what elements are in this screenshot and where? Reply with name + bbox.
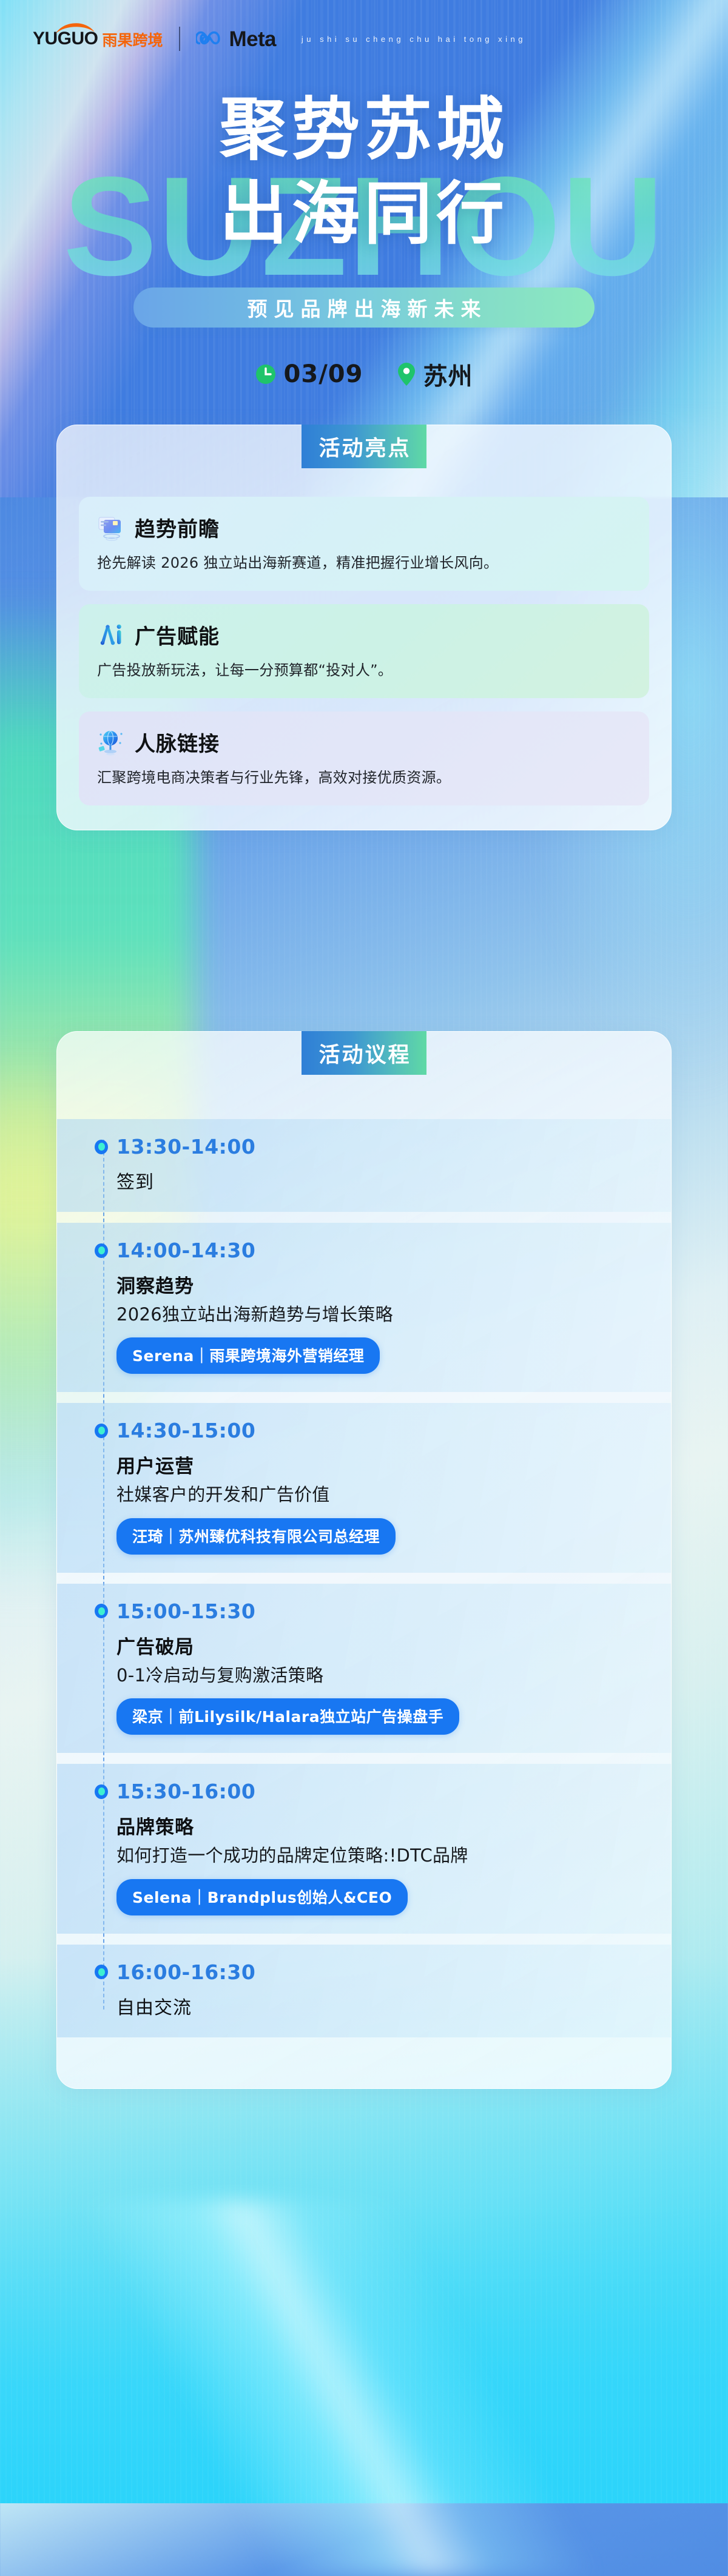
highlights-panel: 活动亮点 趋势前瞻 抢先解读 2026 独立站出海新赛道，精准把握行业增长风向。 [56,425,672,830]
agenda-time-row: 16:00-16:30 [95,1960,637,1984]
timeline-dot-icon [95,1965,108,1979]
agenda-time: 14:30-15:00 [116,1419,255,1442]
highlight-title: 趋势前瞻 [135,513,220,542]
meta-infinity-icon [196,30,225,48]
pinyin-tagline: ju shi su cheng chu hai tong xing [302,35,526,44]
highlight-desc: 广告投放新玩法，让每一分预算都“投对人”。 [97,659,631,681]
agenda-body: 自由交流 [95,1993,637,2019]
highlights-section-badge: 活动亮点 [302,425,426,468]
agenda-time: 14:00-14:30 [116,1239,255,1262]
agenda-speaker-badge: 梁京｜前Lilysilk/Halara独立站广告操盘手 [116,1698,459,1735]
highlight-card: 趋势前瞻 抢先解读 2026 独立站出海新赛道，精准把握行业增长风向。 [79,497,649,591]
yuguo-logo: YUGUO 雨果跨境 [33,30,163,48]
bottom-diagonal-light [49,2200,595,2576]
agenda-item: 14:30-15:00 用户运营 社媒客户的开发和广告价值 汪琦｜苏州臻优科技有… [57,1403,671,1572]
highlight-title: 广告赋能 [135,620,220,650]
highlight-desc: 汇聚跨境电商决策者与行业先锋，高效对接优质资源。 [97,767,631,789]
agenda-panel: 活动议程 13:30-14:00 签到 14:00-14:30 洞察趋势 202… [56,1031,672,2089]
agenda-time: 15:00-15:30 [116,1599,255,1623]
timeline-dot-icon [95,1784,108,1799]
hero-subtitle: 预见品牌出海新未来 [241,293,488,322]
hero-title-line2: 出海同行 [0,178,728,251]
highlight-card: 广告赋能 广告投放新玩法，让每一分预算都“投对人”。 [79,604,649,698]
agenda-speaker-badge: Selena｜Brandplus创始人&CEO [116,1879,408,1915]
agenda-item: 16:00-16:30 自由交流 [57,1945,671,2037]
logo-bar: YUGUO 雨果跨境 Meta ju shi su cheng chu hai … [33,27,526,51]
event-date: 03/09 [284,360,363,388]
chart-document-icon [97,514,125,542]
agenda-speaker-badge: Serena｜雨果跨境海外营销经理 [116,1337,380,1374]
highlight-desc: 抢先解读 2026 独立站出海新赛道，精准把握行业增长风向。 [97,552,631,574]
timeline-dot-icon [95,1424,108,1438]
highlight-card-header: 人脉链接 [97,727,631,757]
agenda-time-row: 15:00-15:30 [95,1599,637,1623]
agenda-item: 14:00-14:30 洞察趋势 2026独立站出海新趋势与增长策略 Seren… [57,1223,671,1392]
event-location-chip: 苏州 [398,357,473,392]
agenda-title: 用户运营 [116,1451,637,1478]
agenda-body: 广告破局 0-1冷启动与复购激活策略 梁京｜前Lilysilk/Halara独立… [95,1632,637,1735]
agenda-time-row: 15:30-16:00 [95,1780,637,1803]
agenda-timeline: 13:30-14:00 签到 14:00-14:30 洞察趋势 2026独立站出… [57,1119,671,2037]
agenda-subtitle: 2026独立站出海新趋势与增长策略 [116,1303,637,1327]
agenda-badge-label: 活动议程 [317,1038,411,1069]
timeline-dot-icon [95,1243,108,1258]
hero-title-line1: 聚势苏城 [0,93,728,167]
agenda-item: 15:00-15:30 广告破局 0-1冷启动与复购激活策略 梁京｜前Lilys… [57,1584,671,1753]
agenda-time-row: 14:00-14:30 [95,1239,637,1262]
agenda-section-badge: 活动议程 [302,1031,426,1075]
timeline-dot-icon [95,1604,108,1618]
agenda-subtitle: 社媒客户的开发和广告价值 [116,1483,637,1507]
location-pin-icon [398,363,415,386]
agenda-subtitle: 0-1冷启动与复购激活策略 [116,1664,637,1687]
highlight-card: 人脉链接 汇聚跨境电商决策者与行业先锋，高效对接优质资源。 [79,711,649,805]
agenda-time: 13:30-14:00 [116,1135,255,1159]
logo-divider [179,27,180,51]
timeline-dot-icon [95,1140,108,1154]
hero-meta-row: 03/09 苏州 [0,357,728,392]
agenda-body: 洞察趋势 2026独立站出海新趋势与增长策略 Serena｜雨果跨境海外营销经理 [95,1271,637,1374]
agenda-time-row: 14:30-15:00 [95,1419,637,1442]
agenda-time-row: 13:30-14:00 [95,1135,637,1159]
ai-icon [97,621,125,649]
event-date-chip: 03/09 [255,360,363,388]
agenda-item: 15:30-16:00 品牌策略 如何打造一个成功的品牌定位策略:!DTC品牌 … [57,1764,671,1933]
agenda-title: 广告破局 [116,1632,637,1659]
agenda-item: 13:30-14:00 签到 [57,1119,671,1212]
agenda-body: 签到 [95,1167,637,1194]
agenda-speaker-badge: 汪琦｜苏州臻优科技有限公司总经理 [116,1518,396,1555]
meta-wordmark: Meta [229,29,276,50]
globe-network-icon [97,728,125,756]
agenda-body: 用户运营 社媒客户的开发和广告价值 汪琦｜苏州臻优科技有限公司总经理 [95,1451,637,1554]
agenda-plain-text: 自由交流 [116,1993,637,2019]
highlight-card-header: 广告赋能 [97,620,631,650]
highlight-title: 人脉链接 [135,727,220,757]
yuguo-wordmark-en: YUGUO [33,30,98,48]
meta-logo: Meta [196,29,276,50]
agenda-plain-text: 签到 [116,1167,637,1194]
agenda-subtitle: 如何打造一个成功的品牌定位策略:!DTC品牌 [116,1844,637,1868]
agenda-title: 洞察趋势 [116,1271,637,1298]
highlights-badge-label: 活动亮点 [317,431,411,462]
clock-icon [255,364,276,385]
agenda-title: 品牌策略 [116,1812,637,1839]
highlight-card-header: 趋势前瞻 [97,513,631,542]
agenda-time: 16:00-16:30 [116,1960,255,1984]
hero-section: SUZHOU 聚势苏城 出海同行 预见品牌出海新未来 03/09 苏州 [0,91,728,392]
yuguo-wordmark-cn: 雨果跨境 [103,33,163,48]
hero-subtitle-pill: 预见品牌出海新未来 [133,288,595,328]
event-location: 苏州 [423,357,473,392]
agenda-time: 15:30-16:00 [116,1780,255,1803]
agenda-body: 品牌策略 如何打造一个成功的品牌定位策略:!DTC品牌 Selena｜Brand… [95,1812,637,1915]
